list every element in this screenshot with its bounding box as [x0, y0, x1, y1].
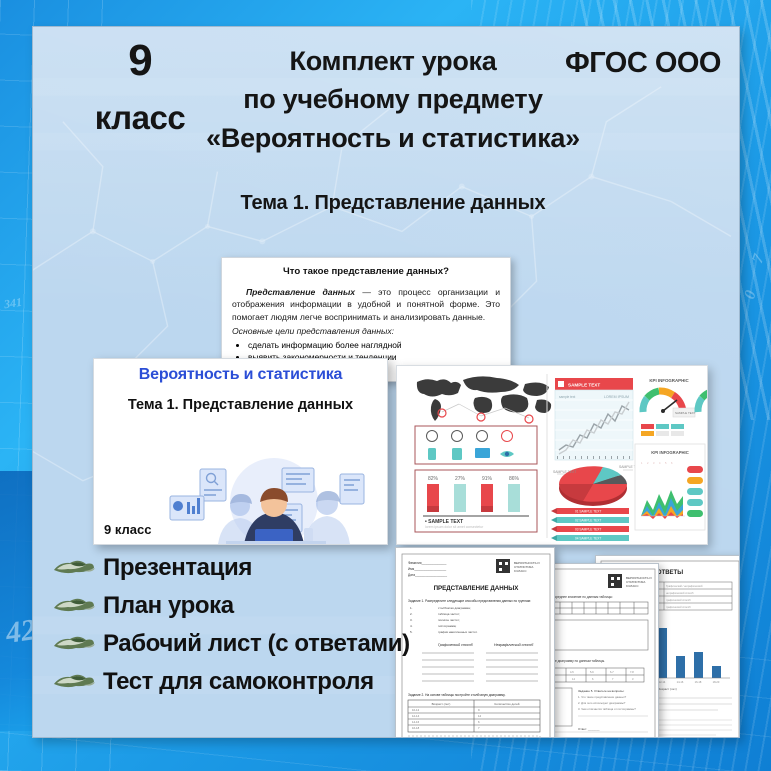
leaf-bullet-icon	[51, 595, 97, 617]
svg-text:91%: 91%	[482, 476, 493, 482]
svg-text:Имя__________________: Имя__________________	[408, 567, 446, 571]
svg-text:12-14: 12-14	[412, 714, 420, 718]
list-item-label: План урока	[103, 592, 234, 620]
contents-list: Презентация План урока Рабочий л	[51, 549, 410, 701]
svg-text:3.: 3.	[410, 618, 413, 622]
svg-text:10-12: 10-12	[412, 708, 420, 712]
svg-text:Возраст (лет): Возраст (лет)	[432, 702, 451, 706]
svg-text:7-8: 7-8	[630, 670, 634, 674]
svg-text:4.: 4.	[410, 624, 413, 628]
qr-code-icon	[496, 559, 510, 573]
slide-cover-grade: 9 класс	[104, 522, 151, 537]
svg-text:14: 14	[478, 714, 482, 718]
svg-text:01 SAMPLE TEXT: 01 SAMPLE TEXT	[575, 510, 601, 514]
svg-text:sample text: sample text	[559, 395, 575, 399]
col-graphic: Графический способ	[438, 643, 474, 647]
svg-text:SAMPLE TEXT: SAMPLE TEXT	[568, 383, 600, 388]
list-item[interactable]: Презентация	[51, 549, 410, 587]
svg-text:82%: 82%	[428, 476, 439, 482]
svg-text:Фамилия______________: Фамилия______________	[408, 561, 447, 565]
slide-definition-term: Представление данных	[246, 287, 355, 297]
list-item[interactable]: Рабочий лист (с ответами)	[51, 625, 410, 663]
svg-text:lorem ipsum dolor sit amet con: lorem ipsum dolor sit amet consectetur	[425, 525, 484, 529]
goal-item: сделать информацию более наглядной	[248, 339, 500, 351]
col-nongraphic: Неграфический способ	[494, 643, 534, 647]
svg-text:полигон частот;: полигон частот;	[438, 618, 460, 622]
svg-text:неграфический способ: неграфический способ	[666, 591, 694, 595]
svg-text:5-6: 5-6	[590, 670, 594, 674]
svg-text:SAMPLE TEXT: SAMPLE TEXT	[553, 470, 576, 474]
list-item[interactable]: Тест для самоконтроля	[51, 663, 410, 701]
svg-text:3. Чем отличается таблица от г: 3. Чем отличается таблица от гистограммы…	[578, 707, 636, 711]
slide-definition-heading: Что такое представление данных?	[232, 266, 500, 277]
svg-text:Ответ: _______: Ответ: _______	[578, 727, 600, 731]
svg-text:гистограмма;: гистограмма;	[438, 624, 457, 628]
worksheet-header-fields: Фамилия______________ Имя_______________…	[408, 561, 447, 577]
infographic-svg: 82%27% 91%86% • SAMPLE TEXT lorem ipsum …	[397, 366, 708, 545]
svg-text:1. Что такое представление дан: 1. Что такое представление данных?	[578, 695, 627, 699]
svg-text:5.: 5.	[410, 630, 413, 634]
svg-text:график накопленных частот.: график накопленных частот.	[438, 630, 478, 634]
title-line-1: Комплект урока	[183, 42, 603, 80]
worksheet-task1: Задание 1. Распределите следующие способ…	[408, 599, 531, 603]
svg-text:14-16: 14-16	[412, 720, 420, 724]
svg-text:таблица частот;: таблица частот;	[438, 612, 460, 616]
people-data-illustration-icon	[156, 446, 381, 544]
svg-text:Возраст (лет): Возраст (лет)	[658, 687, 677, 691]
svg-text:графический способ: графический способ	[666, 598, 691, 602]
slide-cover-course: Вероятность и статистика	[94, 366, 387, 384]
svg-text:1.: 1.	[410, 606, 413, 610]
svg-text:LOREM IPSUM: LOREM IPSUM	[604, 395, 629, 399]
svg-text:02 SAMPLE TEXT: 02 SAMPLE TEXT	[575, 519, 601, 523]
leaf-bullet-icon	[51, 557, 97, 579]
svg-text:9 КЛАСС: 9 КЛАСС	[626, 584, 639, 588]
page-subtitle: Тема 1. Представление данных	[183, 192, 603, 215]
list-item-label: Рабочий лист (с ответами)	[103, 630, 410, 658]
svg-text:2.: 2.	[410, 612, 413, 616]
list-item[interactable]: План урока	[51, 587, 410, 625]
svg-text:SAMPLE TEXT: SAMPLE TEXT	[675, 411, 696, 415]
list-item-label: Презентация	[103, 554, 252, 582]
svg-text:86%: 86%	[509, 476, 520, 482]
slide-cover-topic: Тема 1. Представление данных	[94, 396, 387, 414]
svg-text:18-20: 18-20	[713, 680, 720, 684]
svg-text:12-14: 12-14	[659, 680, 666, 684]
svg-text:столбчатая диаграмма;: столбчатая диаграмма;	[438, 606, 471, 610]
poster-canvas: 42 7 341 7 0	[0, 0, 771, 771]
svg-text:Дата__________________: Дата__________________	[408, 573, 447, 577]
document-worksheet-page1[interactable]: Фамилия______________ Имя_______________…	[395, 547, 555, 738]
svg-text:Задание 5. Ответьте на вопросы: Задание 5. Ответьте на вопросы:	[578, 689, 624, 693]
title-line-3: «Вероятность и статистика»	[183, 119, 603, 157]
svg-text:2. Для чего используют диаграм: 2. Для чего используют диаграммы?	[578, 701, 626, 705]
svg-text:16-18: 16-18	[695, 680, 702, 684]
worksheet-page1: Фамилия______________ Имя_______________…	[396, 548, 555, 738]
list-item-label: Тест для самоконтроля	[103, 668, 374, 696]
kpi-gauges-title: KPI INFOGRAPHIC	[649, 378, 689, 383]
svg-text:16-18: 16-18	[412, 726, 420, 730]
leaf-bullet-icon	[51, 671, 97, 693]
svg-text:Количество детей: Количество детей	[495, 702, 520, 706]
infographic-board[interactable]: 82%27% 91%86% • SAMPLE TEXT lorem ipsum …	[396, 365, 708, 545]
slide-definition-goals-heading: Основные цели представления данных:	[232, 325, 500, 337]
worksheet-title: ПРЕДСТАВЛЕНИЕ ДАННЫХ	[434, 585, 520, 592]
svg-text:4-5: 4-5	[570, 670, 574, 674]
svg-text:03 SAMPLE TEXT: 03 SAMPLE TEXT	[575, 528, 601, 532]
svg-text:27%: 27%	[455, 476, 466, 482]
svg-text:9 КЛАСС: 9 КЛАСС	[514, 569, 527, 573]
poster-card: 9 класс ФГОС ООО Комплект урока по учебн…	[32, 26, 740, 738]
qr-code-icon	[608, 574, 622, 588]
title-line-2: по учебному предмету	[183, 80, 603, 118]
slide-definition-body: Представление данных — это процесс орган…	[232, 286, 500, 323]
svg-text:графический способ: графический способ	[666, 605, 691, 609]
svg-text:6-7: 6-7	[610, 670, 614, 674]
answers-title: ОТВЕТЫ	[657, 570, 683, 576]
svg-text:Графический / неграфический: Графический / неграфический	[666, 584, 703, 588]
page-title: Комплект урока по учебному предмету «Вер…	[183, 42, 603, 157]
slide-cover[interactable]: Вероятность и статистика Тема 1. Предста…	[93, 358, 388, 545]
leaf-bullet-icon	[51, 633, 97, 655]
worksheet-task2: Задание 2. На основе таблицы постройте с…	[408, 693, 506, 697]
svg-text:04 SAMPLE TEXT: 04 SAMPLE TEXT	[575, 537, 601, 541]
svg-text:14-16: 14-16	[677, 680, 684, 684]
kpi-area-title: KPI INFOGRAPHIC	[651, 450, 688, 455]
